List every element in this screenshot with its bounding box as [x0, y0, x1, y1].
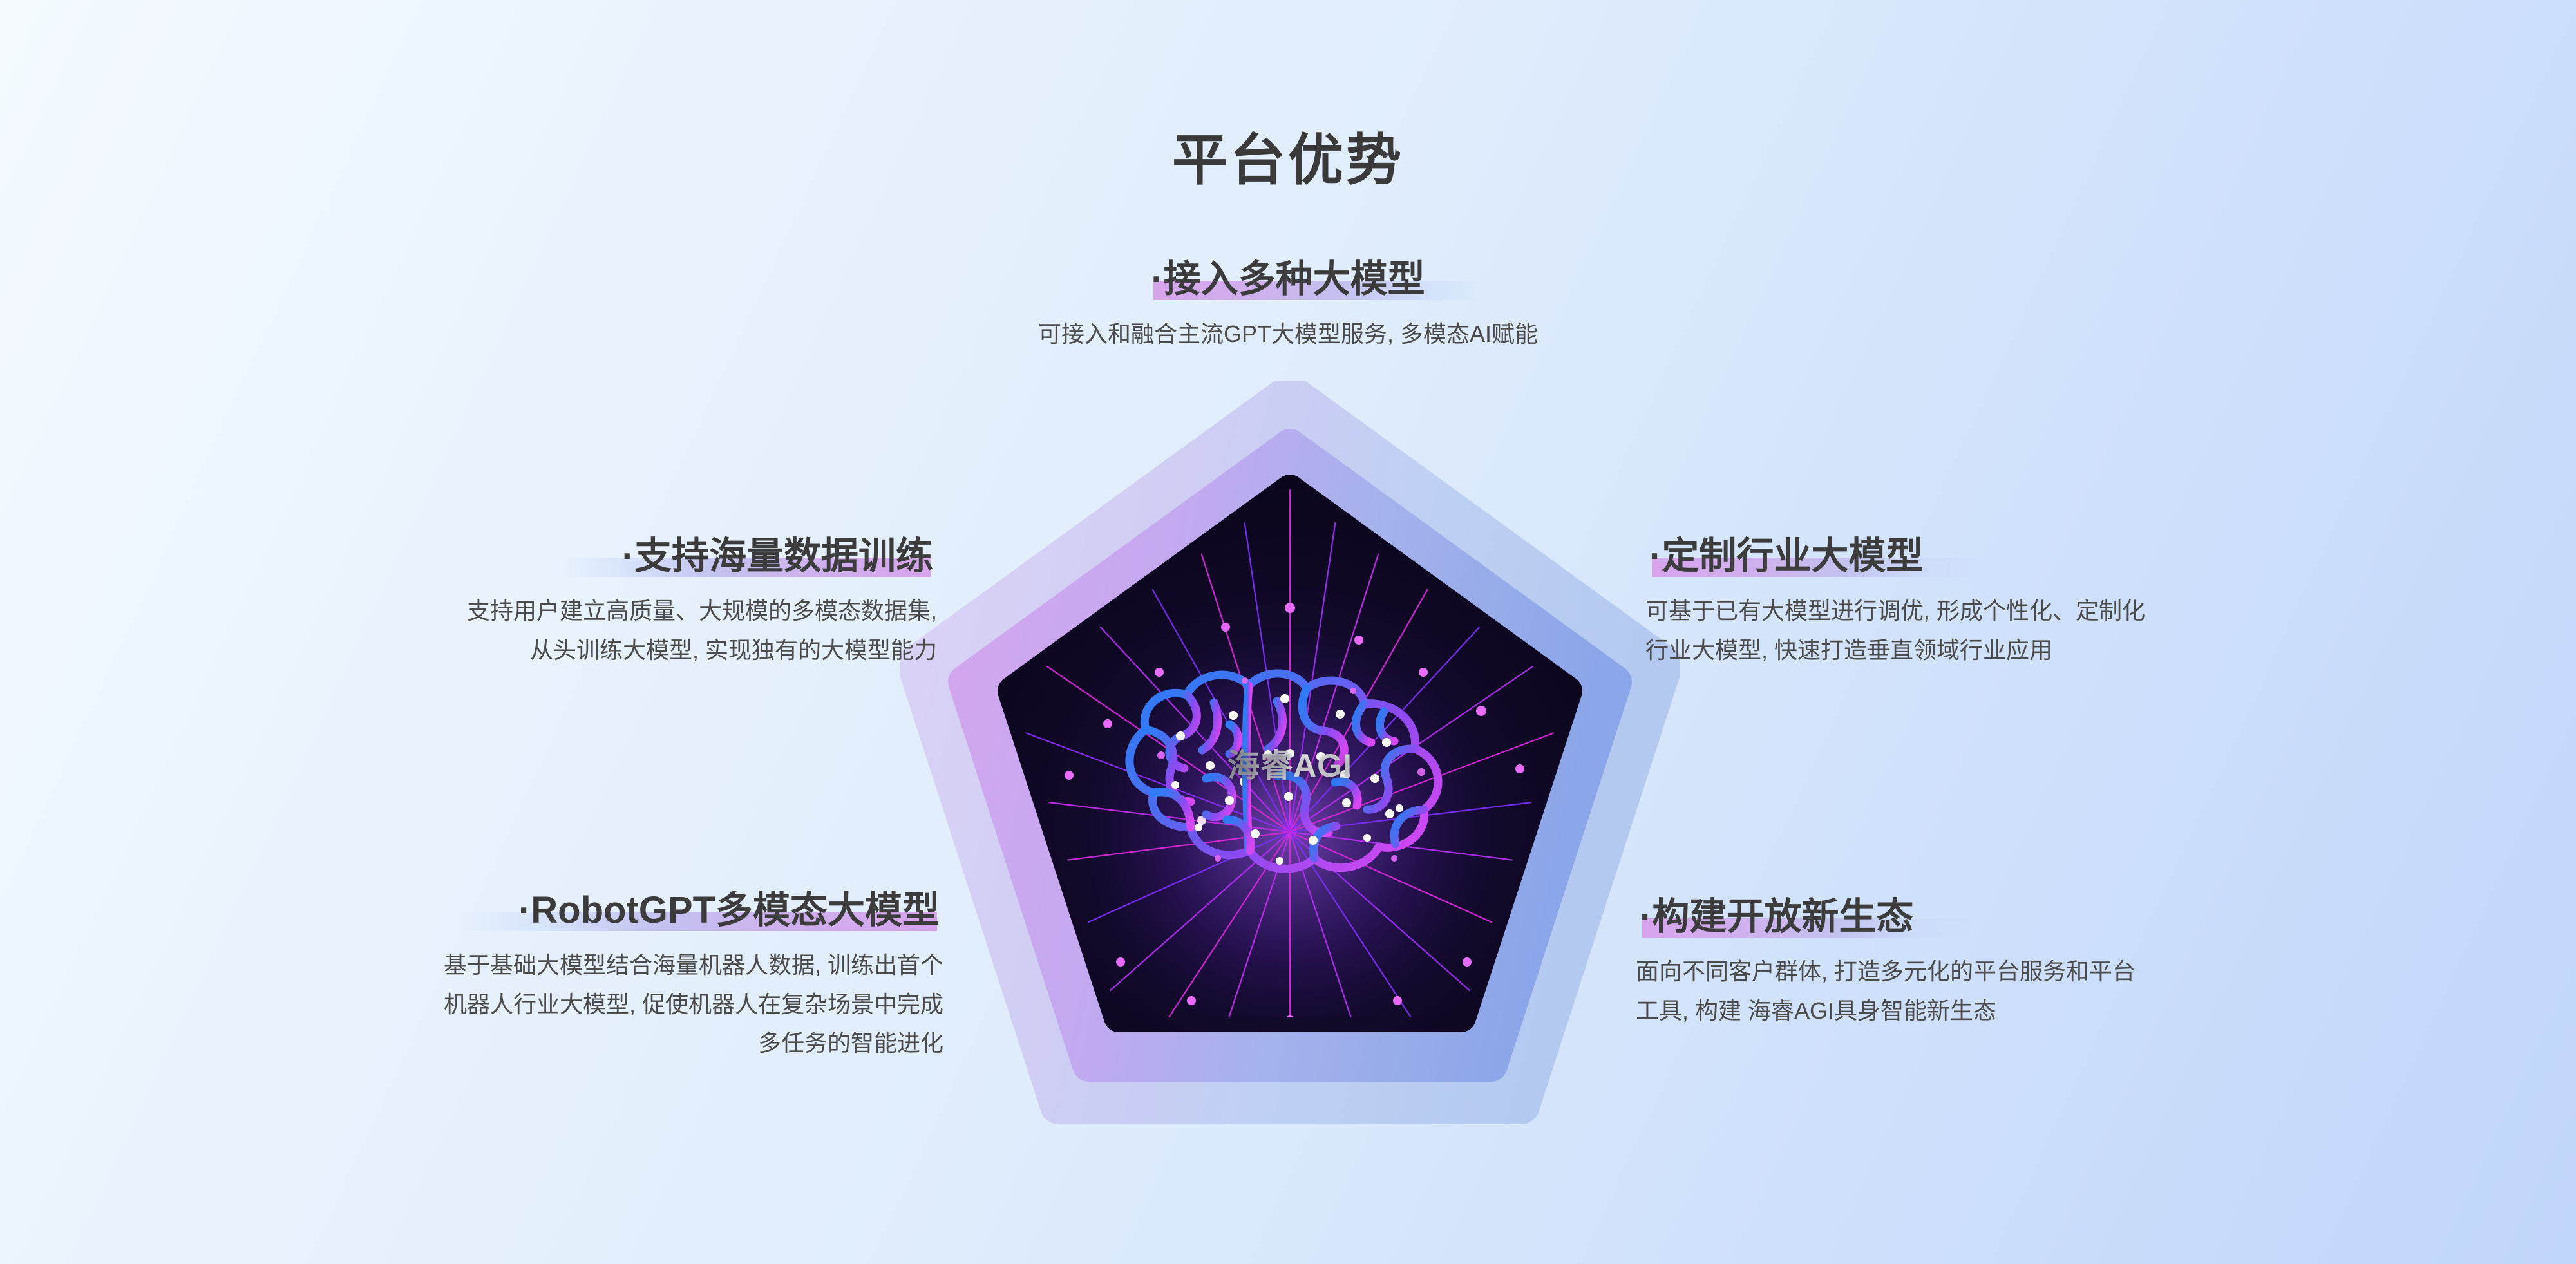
desc-line: 支持用户建立高质量、大规模的多模态数据集, [0, 592, 937, 630]
desc-line: 基于基础大模型结合海量机器人数据, 训练出首个 [0, 947, 943, 984]
desc-line: 从头训练大模型, 实现独有的大模型能力 [0, 632, 937, 669]
brand-label: 海睿AGI [1227, 740, 1352, 786]
heading-text: RobotGPT多模态大模型 [531, 889, 940, 931]
feature-top-heading: ·接入多种大模型 [1147, 258, 1428, 301]
feature-top: ·接入多种大模型 可接入和融合主流GPT大模型服务, 多模态AI赋能 [0, 258, 2576, 354]
central-emblem: 海睿AGI [900, 381, 1680, 1144]
page-title: 平台优势 [0, 115, 2576, 195]
heading-text: 构建开放新生态 [1652, 896, 1913, 938]
bullet-dot: · [1649, 535, 1662, 577]
feature-right-top-heading: ·定制行业大模型 [1645, 534, 1927, 578]
feature-left-top-heading: ·支持海量数据训练 [618, 534, 937, 578]
feature-left-top-desc: 支持用户建立高质量、大规模的多模态数据集, 从头训练大模型, 实现独有的大模型能… [0, 592, 937, 669]
heading-text: 定制行业大模型 [1662, 535, 1923, 577]
feature-right-top-desc: 可基于已有大模型进行调优, 形成个性化、定制化 行业大模型, 快速打造垂直领域行… [1645, 592, 2576, 669]
bullet-dot: · [518, 889, 531, 931]
desc-line: 面向不同客户群体, 打造多元化的平台服务和平台 [1636, 953, 2576, 990]
feature-left-top: ·支持海量数据训练 支持用户建立高质量、大规模的多模态数据集, 从头训练大模型,… [0, 534, 937, 669]
desc-line: 行业大模型, 快速打造垂直领域行业应用 [1645, 632, 2576, 669]
feature-right-bottom: ·构建开放新生态 面向不同客户群体, 打造多元化的平台服务和平台 工具, 构建 … [1636, 895, 2576, 1030]
bullet-dot: · [622, 535, 634, 577]
feature-right-bottom-heading: ·构建开放新生态 [1636, 895, 1917, 939]
feature-top-desc: 可接入和融合主流GPT大模型服务, 多模态AI赋能 [0, 316, 2576, 353]
heading-text: 接入多种大模型 [1164, 258, 1425, 300]
bullet-dot: · [1151, 258, 1163, 300]
desc-line: 工具, 构建 海睿AGI具身智能新生态 [1636, 992, 2576, 1030]
feature-left-bottom: ·RobotGPT多模态大模型 基于基础大模型结合海量机器人数据, 训练出首个 … [0, 889, 943, 1062]
feature-right-bottom-desc: 面向不同客户群体, 打造多元化的平台服务和平台 工具, 构建 海睿AGI具身智能… [1636, 953, 2576, 1030]
feature-left-bottom-desc: 基于基础大模型结合海量机器人数据, 训练出首个 机器人行业大模型, 促使机器人在… [0, 947, 943, 1062]
desc-line: 可基于已有大模型进行调优, 形成个性化、定制化 [1645, 592, 2576, 630]
desc-line: 可接入和融合主流GPT大模型服务, 多模态AI赋能 [0, 316, 2576, 353]
feature-left-bottom-heading: ·RobotGPT多模态大模型 [515, 889, 943, 932]
bullet-dot: · [1640, 896, 1652, 938]
desc-line: 多任务的智能进化 [0, 1024, 943, 1062]
heading-text: 支持海量数据训练 [634, 535, 933, 577]
desc-line: 机器人行业大模型, 促使机器人在复杂场景中完成 [0, 986, 943, 1023]
feature-right-top: ·定制行业大模型 可基于已有大模型进行调优, 形成个性化、定制化 行业大模型, … [1645, 534, 2576, 669]
